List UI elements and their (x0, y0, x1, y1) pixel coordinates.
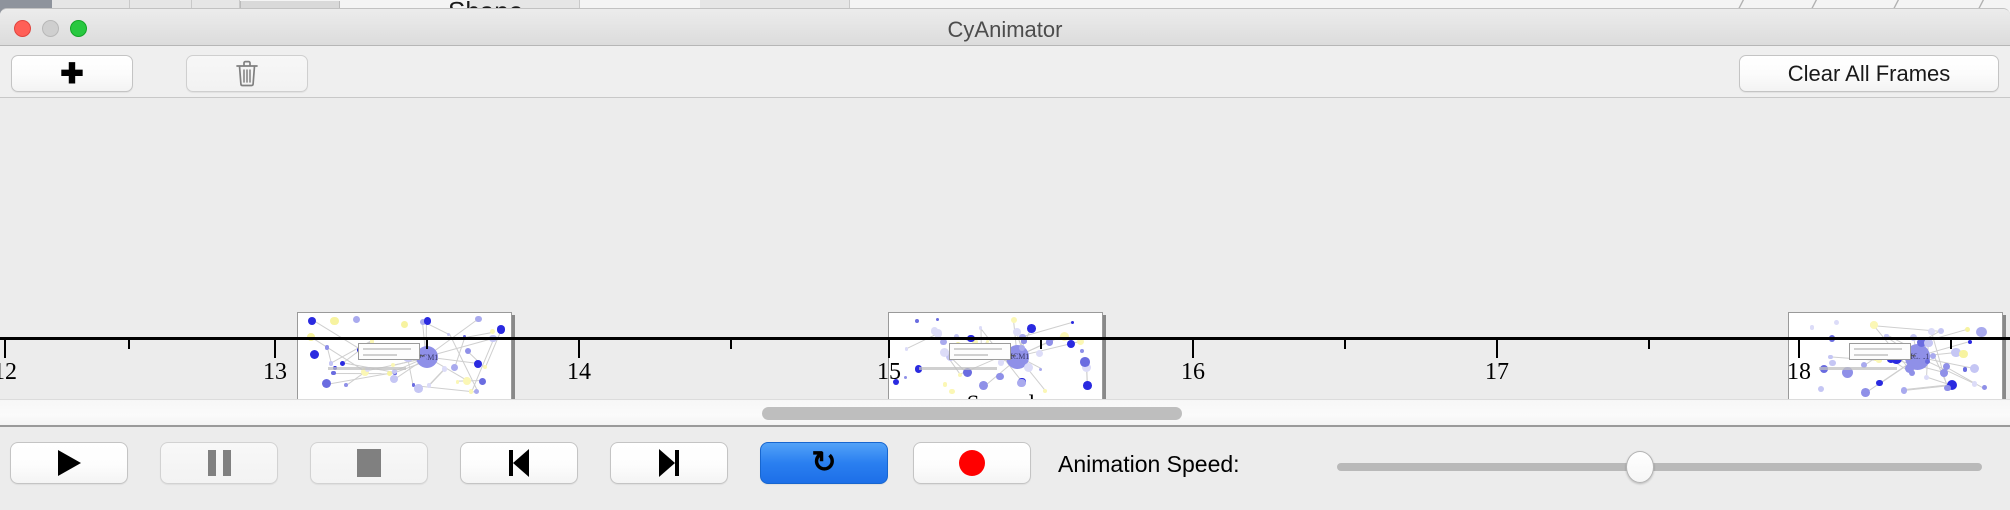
ruler-tick (1344, 340, 1346, 349)
network-node (401, 321, 408, 328)
slider-track (1337, 463, 1982, 471)
network-node (490, 329, 496, 335)
ruler-tick (4, 340, 6, 358)
ruler-tick-label: 16 (1181, 359, 1205, 386)
ruler-tick (730, 340, 732, 349)
ruler-tick (1192, 340, 1194, 358)
skip-start-icon (509, 449, 529, 477)
ruler-tick-label: 12 (0, 359, 17, 386)
loop-icon: ↻ (811, 448, 836, 478)
network-node (424, 317, 431, 324)
network-node (915, 319, 919, 323)
stop-icon (357, 449, 381, 477)
ruler-tick (1950, 340, 1952, 349)
trash-icon (234, 59, 260, 89)
axis-line (0, 337, 2010, 340)
network-node (1928, 328, 1935, 335)
pause-icon (208, 450, 231, 476)
network-node (475, 316, 482, 323)
ruler-tick-label: 14 (567, 359, 591, 386)
network-node (1965, 327, 1970, 332)
network-node (330, 317, 338, 325)
network-node (1027, 324, 1036, 333)
animation-speed-label: Animation Speed: (1058, 451, 1240, 478)
record-icon (959, 450, 985, 476)
network-node (1834, 320, 1839, 325)
playback-controls: ↻ Animation Speed: (0, 427, 2010, 507)
ruler-tick (1496, 340, 1498, 358)
play-button[interactable] (10, 442, 128, 484)
ruler-tick (426, 340, 428, 349)
window-title: CyAnimator (0, 17, 2010, 43)
network-node (936, 318, 940, 322)
skip-end-icon (659, 449, 679, 477)
ruler-tick (1648, 340, 1650, 349)
loop-button[interactable]: ↻ (760, 442, 888, 484)
skip-start-button[interactable] (460, 442, 578, 484)
clear-all-frames-label: Clear All Frames (1788, 61, 1951, 87)
network-node (1011, 317, 1017, 323)
network-node (308, 317, 317, 326)
pause-button[interactable] (160, 442, 278, 484)
network-node (1870, 321, 1878, 329)
ruler-tick (1798, 340, 1800, 358)
ruler-tick (578, 340, 580, 358)
network-node (1013, 328, 1021, 336)
ruler-tick (128, 340, 130, 349)
ruler-tick-label: 18 (1787, 359, 1811, 386)
network-node (497, 325, 505, 333)
timeline-panel[interactable]: MCM1MCM1MCM1 12131415161718 Seconds (0, 98, 2010, 399)
network-node (1810, 325, 1815, 330)
plus-icon: ✚ (60, 60, 83, 88)
network-node (1071, 321, 1074, 324)
skip-end-button[interactable] (610, 442, 728, 484)
timeline-scrollbar[interactable] (0, 399, 2010, 427)
title-bar: CyAnimator (0, 9, 2010, 46)
timeline-scrollbar-thumb[interactable] (762, 407, 1182, 420)
ruler-tick (888, 340, 890, 358)
add-frame-button[interactable]: ✚ (11, 55, 133, 92)
network-node (1938, 328, 1945, 335)
ruler-tick-label: 13 (263, 359, 287, 386)
axis-title: Seconds (0, 391, 2010, 399)
play-icon (58, 450, 81, 476)
ruler-tick-label: 15 (877, 359, 901, 386)
stop-button[interactable] (310, 442, 428, 484)
toolbar: ✚ Clear All Frames (0, 46, 2010, 98)
network-node (1976, 327, 1987, 338)
slider-thumb[interactable] (1626, 451, 1654, 483)
ruler-tick-label: 17 (1485, 359, 1509, 386)
cyanimator-window: CyAnimator ✚ Clear All Frames MCM1MCM1MC… (0, 8, 2010, 510)
clear-all-frames-button[interactable]: Clear All Frames (1739, 55, 1999, 92)
delete-frame-button[interactable] (186, 55, 308, 92)
animation-speed-slider[interactable] (1337, 463, 1982, 471)
ruler-tick (1040, 340, 1042, 349)
time-ruler: 12131415161718 Seconds (0, 337, 2010, 399)
network-node (353, 316, 361, 324)
record-button[interactable] (913, 442, 1031, 484)
ruler-tick (274, 340, 276, 358)
